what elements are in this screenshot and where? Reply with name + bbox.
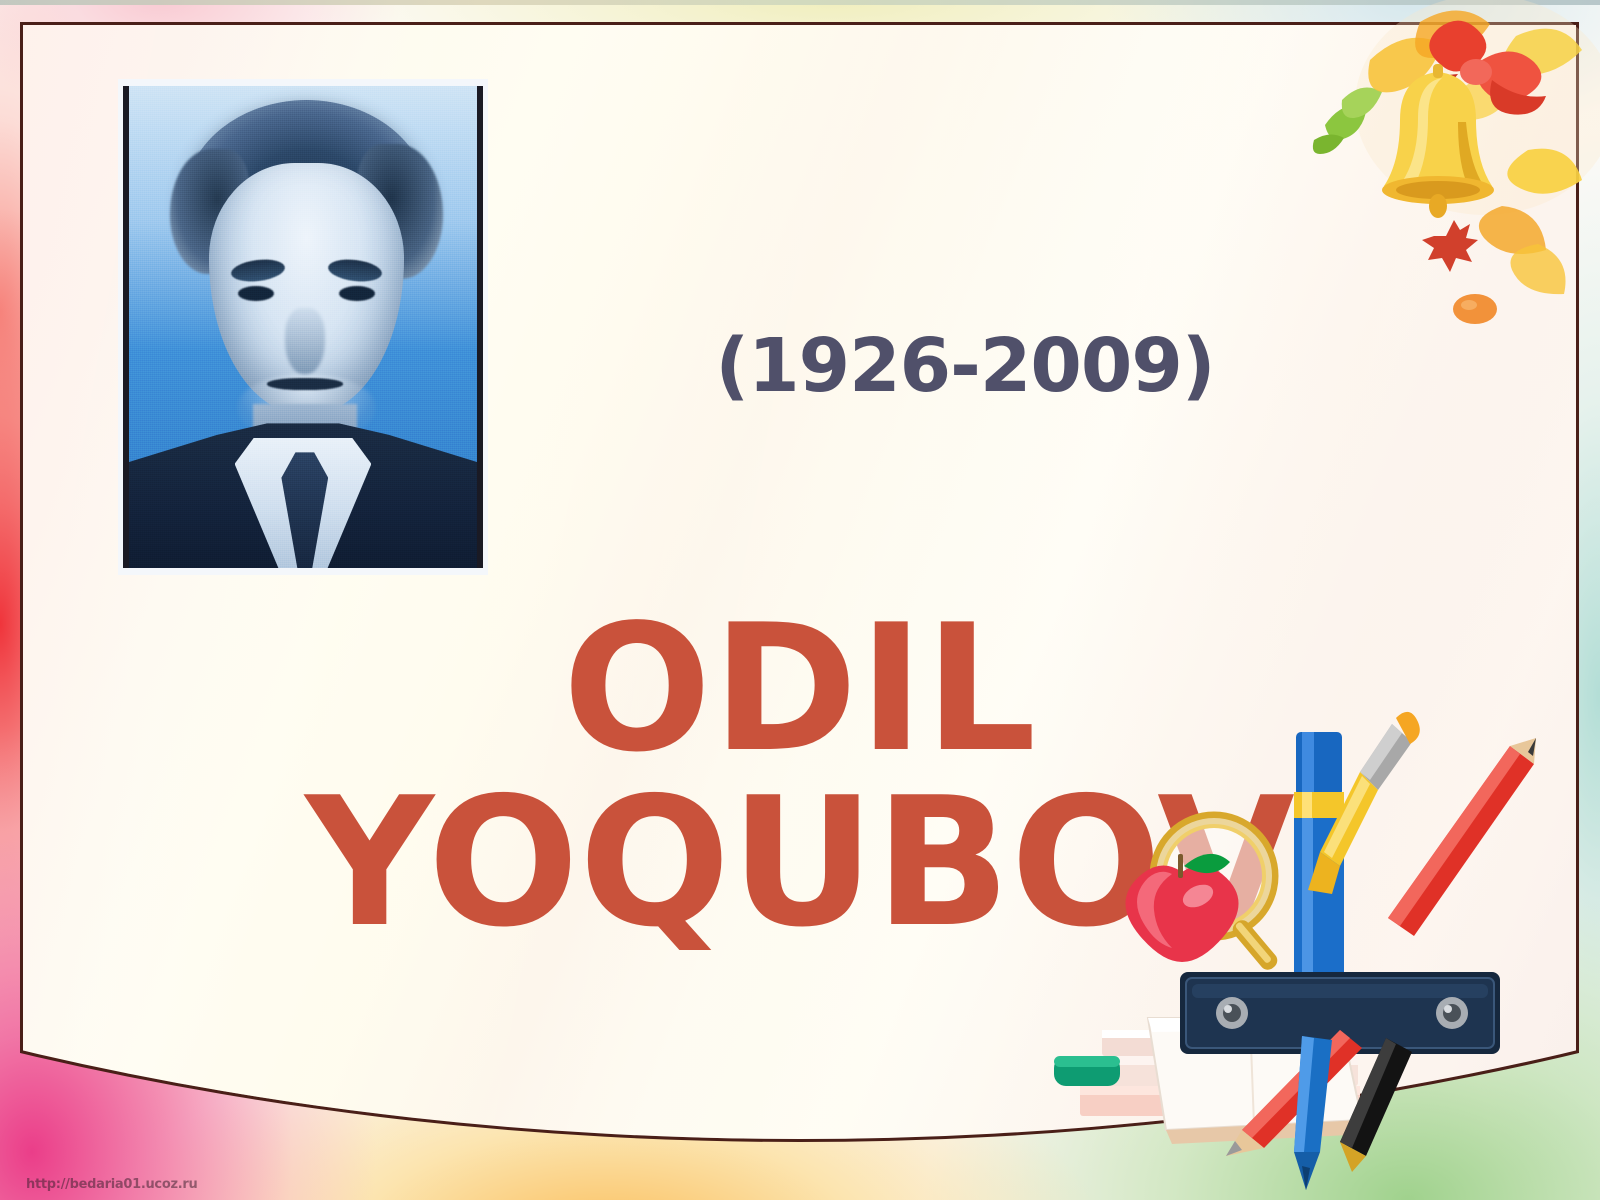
orange-berry-icon <box>1453 294 1497 324</box>
presentation-slide: (1926-2009) ODIL YOQUBOV <box>0 0 1600 1200</box>
source-watermark: http://bedaria01.ucoz.ru <box>26 1177 197 1192</box>
red-maple-leaf-icon <box>1422 220 1478 272</box>
red-pencil-icon <box>1388 738 1536 936</box>
autumn-bell-decoration <box>1270 0 1600 340</box>
school-supplies-decoration <box>1040 700 1600 1200</box>
